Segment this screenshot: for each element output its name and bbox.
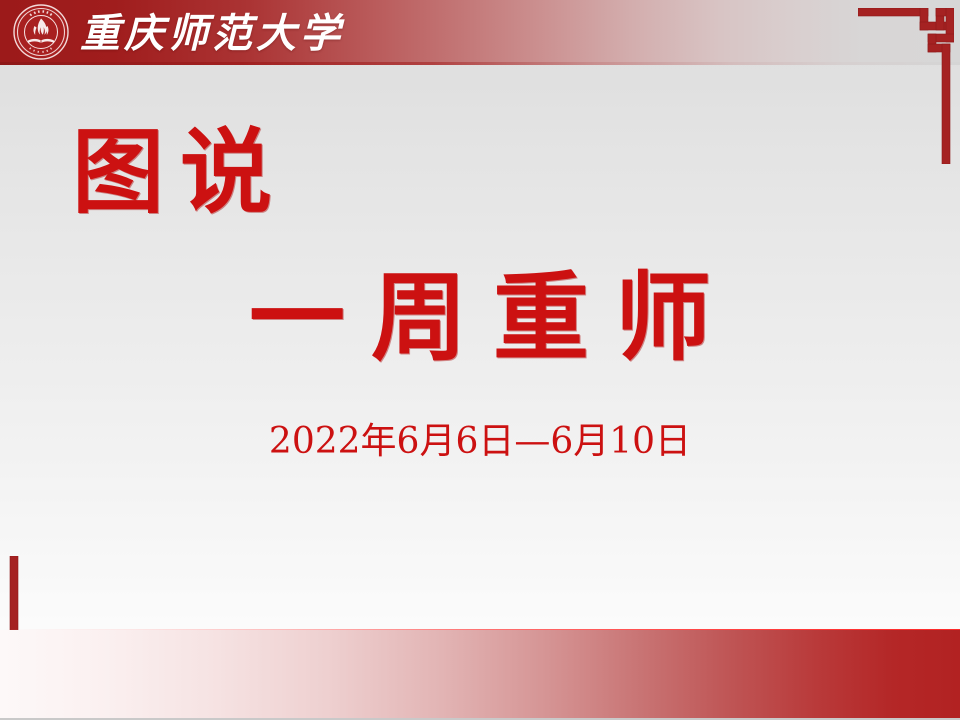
header-underline [0, 62, 960, 65]
presentation-slide: 重庆师范大学 [0, 0, 960, 720]
date-range: 2022年6月6日—6月10日 [0, 422, 960, 462]
page-title: 一周重师 [0, 270, 960, 366]
footer-band [0, 630, 960, 720]
chinese-fret-corner-icon-top-right [858, 8, 954, 164]
university-seal-icon [13, 4, 69, 60]
university-name: 重庆师范大学 [80, 4, 344, 56]
slide-kicker: 图说 [72, 126, 288, 218]
